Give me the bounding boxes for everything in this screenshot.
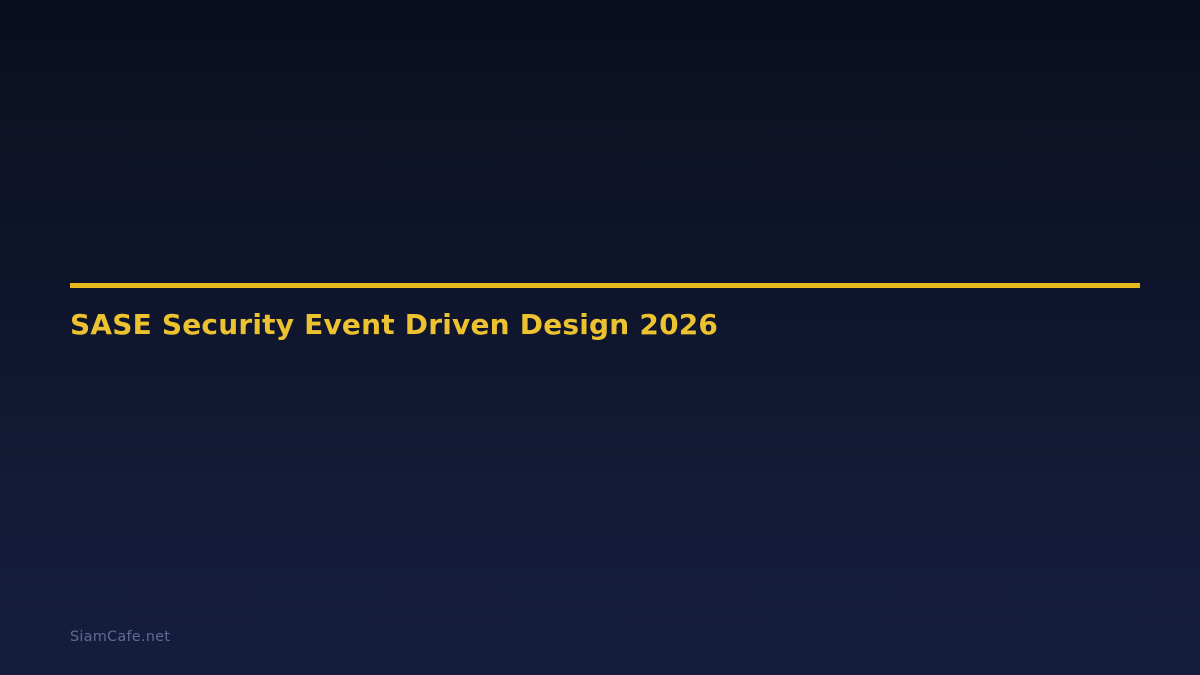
title-block: SASE Security Event Driven Design 2026 [70, 283, 1140, 341]
page-title: SASE Security Event Driven Design 2026 [70, 288, 1140, 341]
presentation-slide: SASE Security Event Driven Design 2026 S… [0, 0, 1200, 675]
footer-watermark: SiamCafe.net [70, 629, 170, 645]
